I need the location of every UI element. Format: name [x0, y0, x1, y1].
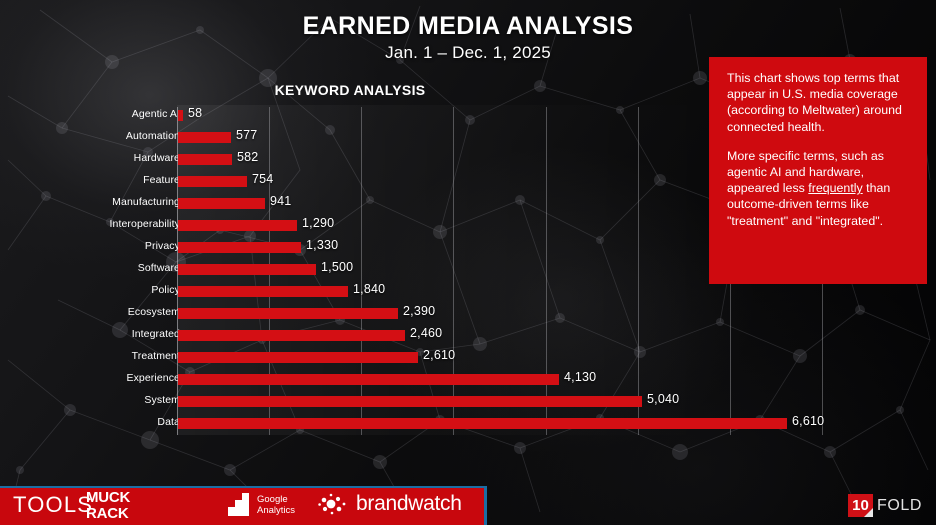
bar-category-label: Manufacturing [112, 196, 180, 208]
bar-row: Ecosystem2,390 [0, 303, 936, 325]
bar-value-label: 582 [237, 150, 258, 164]
slide-canvas: EARNED MEDIA ANALYSIS Jan. 1 – Dec. 1, 2… [0, 0, 936, 525]
bar [178, 374, 559, 385]
bar-value-label: 577 [236, 128, 257, 142]
tenfold-logo: 10 FOLD [848, 494, 922, 517]
bar-category-label: Hardware [134, 152, 180, 164]
bar-value-label: 6,610 [792, 414, 824, 428]
muckrack-logo: MUCK RACK [86, 490, 130, 521]
bar-value-label: 58 [188, 106, 202, 120]
bar [178, 418, 787, 429]
google-analytics-bars-icon [228, 493, 250, 516]
brandwatch-logo: brandwatch [318, 492, 462, 516]
bar-value-label: 1,330 [306, 238, 338, 252]
bar-value-label: 754 [252, 172, 273, 186]
bar-value-label: 1,840 [353, 282, 385, 296]
muckrack-line1: MUCK [86, 490, 130, 506]
bar-category-label: Automation [126, 130, 180, 142]
bar [178, 308, 398, 319]
bar-row: Data6,610 [0, 413, 936, 435]
bar-value-label: 5,040 [647, 392, 679, 406]
bar-category-label: Privacy [145, 240, 180, 252]
callout-paragraph-2: More specific terms, such as agentic AI … [727, 148, 913, 229]
callout-p2-underlined: frequently [808, 181, 862, 195]
bar-row: Policy1,840 [0, 281, 936, 303]
bar-value-label: 1,290 [302, 216, 334, 230]
bar-row: System5,040 [0, 391, 936, 413]
bar-category-label: Feature [143, 174, 180, 186]
bar-category-label: Treatment [132, 350, 180, 362]
callout-annotation-box: This chart shows top terms that appear i… [709, 57, 927, 284]
bar-value-label: 2,460 [410, 326, 442, 340]
bar [178, 242, 301, 253]
bar [178, 264, 316, 275]
google-analytics-text: Google Analytics [257, 495, 295, 516]
bar [178, 396, 642, 407]
bar-category-label: Software [138, 262, 180, 274]
brandwatch-dots-icon [318, 493, 348, 515]
bar [178, 198, 265, 209]
bar [178, 352, 418, 363]
keyword-analysis-bar-chart: Agentic AI58Automation577Hardware582Feat… [0, 105, 700, 440]
bar [178, 286, 348, 297]
tenfold-mark: 10 [848, 494, 873, 517]
bar-category-label: Interoperability [110, 218, 180, 230]
bar [178, 110, 183, 121]
brandwatch-wordmark: brandwatch [356, 492, 462, 516]
bar-row: Treatment2,610 [0, 347, 936, 369]
bar-category-label: Experience [126, 372, 180, 384]
bar-value-label: 4,130 [564, 370, 596, 384]
footer-tools-label: TOOLS [13, 492, 93, 518]
bar-value-label: 2,390 [403, 304, 435, 318]
bar [178, 176, 247, 187]
callout-paragraph-1: This chart shows top terms that appear i… [727, 70, 913, 135]
bar-row: Experience4,130 [0, 369, 936, 391]
bar-row: Integrated2,460 [0, 325, 936, 347]
bar-category-label: Data [157, 416, 180, 428]
bar [178, 132, 231, 143]
bar-category-label: Policy [151, 284, 180, 296]
bar-category-label: Integrated [132, 328, 180, 340]
tenfold-word: FOLD [877, 497, 922, 515]
bar-value-label: 941 [270, 194, 291, 208]
google-analytics-logo: Google Analytics [228, 493, 295, 516]
bar [178, 330, 405, 341]
page-title: EARNED MEDIA ANALYSIS [0, 12, 936, 41]
bar-category-label: Agentic AI [132, 108, 180, 120]
bar-value-label: 2,610 [423, 348, 455, 362]
bar-category-label: Ecosystem [128, 306, 180, 318]
chart-title: KEYWORD ANALYSIS [0, 82, 700, 98]
bar-category-label: System [144, 394, 180, 406]
google-analytics-line1: Google [257, 495, 295, 506]
bar [178, 154, 232, 165]
bar-value-label: 1,500 [321, 260, 353, 274]
google-analytics-line2: Analytics [257, 506, 295, 517]
bar [178, 220, 297, 231]
muckrack-line2: RACK [86, 506, 130, 522]
